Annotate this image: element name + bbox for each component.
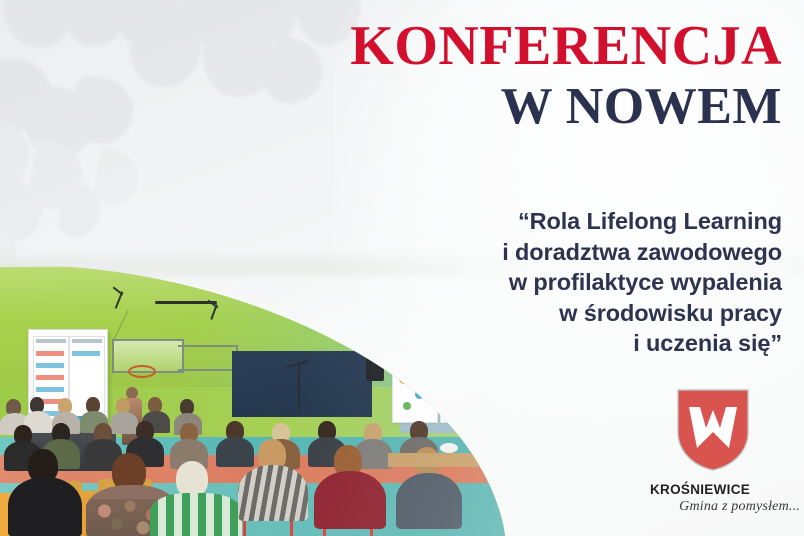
board-col1-header: [36, 339, 66, 343]
green-checked-shirt: [150, 493, 242, 536]
audience-head-front: [176, 461, 208, 497]
audience-shoulder: [216, 437, 254, 467]
audience-shoulder-front: [396, 473, 462, 529]
board-row: [36, 351, 64, 356]
basketball-ring-icon: [128, 365, 156, 378]
municipality-tagline: Gmina z pomysłem...: [650, 499, 800, 515]
municipality-name: KROŚNIEWICE: [650, 482, 800, 497]
conference-poster: KONFERENCJA W NOWEM “Rola Lifelong Learn…: [0, 0, 804, 536]
quote-line-1: “Rola Lifelong Learning: [242, 206, 782, 237]
board-row: [36, 387, 64, 392]
red-jacket: [314, 471, 386, 529]
board-row: [36, 363, 64, 368]
hoop-support-arm: [178, 345, 238, 371]
quote-line-4: w środowisku pracy: [242, 298, 782, 329]
audience-shoulder: [110, 412, 138, 434]
quote-line-3: w profilaktyce wypalenia: [242, 267, 782, 298]
headline-line-2: W NOWEM: [162, 81, 782, 133]
headline-line-1: KONFERENCJA: [162, 18, 782, 74]
audience-shoulder-front: [8, 477, 82, 536]
board-row: [36, 375, 64, 380]
striped-top: [238, 465, 308, 521]
quote-line-2: i doradztwa zawodowego: [242, 237, 782, 268]
cup-icon: [440, 443, 458, 453]
krosniewice-coat-of-arms-shield-icon: [676, 388, 750, 472]
wall-bar: [155, 301, 217, 304]
board-col2-header: [72, 339, 102, 343]
poster-headline: KONFERENCJA W NOWEM: [162, 18, 782, 133]
board-row: [72, 351, 100, 356]
